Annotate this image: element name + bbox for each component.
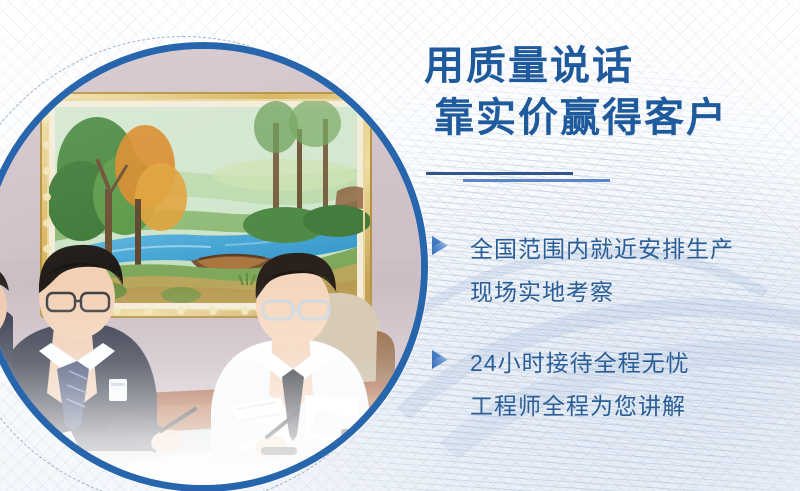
arrow-right-icon bbox=[428, 348, 452, 372]
divider-line-top bbox=[426, 172, 573, 175]
promo-banner: 用质量说话 靠实价赢得客户 bbox=[0, 0, 800, 491]
divider-line-bottom bbox=[463, 179, 610, 182]
feature-item-2: 24小时接待全程无忧 工程师全程为您讲解 bbox=[424, 342, 800, 428]
headline-line-2: 靠实价赢得客户 bbox=[424, 92, 800, 144]
feature-2-line-1: 24小时接待全程无忧 bbox=[470, 342, 800, 385]
photo-circle-frame bbox=[0, 42, 428, 491]
headline-divider bbox=[426, 172, 676, 186]
meeting-photo bbox=[0, 49, 421, 485]
arrow-right-icon bbox=[428, 234, 452, 258]
feature-1-line-2: 现场实地考察 bbox=[470, 271, 800, 314]
feature-1-line-1: 全国范围内就近安排生产 bbox=[470, 228, 800, 271]
headline: 用质量说话 靠实价赢得客户 bbox=[424, 40, 800, 144]
banner-content: 用质量说话 靠实价赢得客户 bbox=[424, 0, 800, 491]
feature-list: 全国范围内就近安排生产 现场实地考察 bbox=[424, 228, 800, 456]
feature-item-1: 全国范围内就近安排生产 现场实地考察 bbox=[424, 228, 800, 314]
headline-line-1: 用质量说话 bbox=[424, 40, 800, 92]
feature-2-line-2: 工程师全程为您讲解 bbox=[470, 385, 800, 428]
